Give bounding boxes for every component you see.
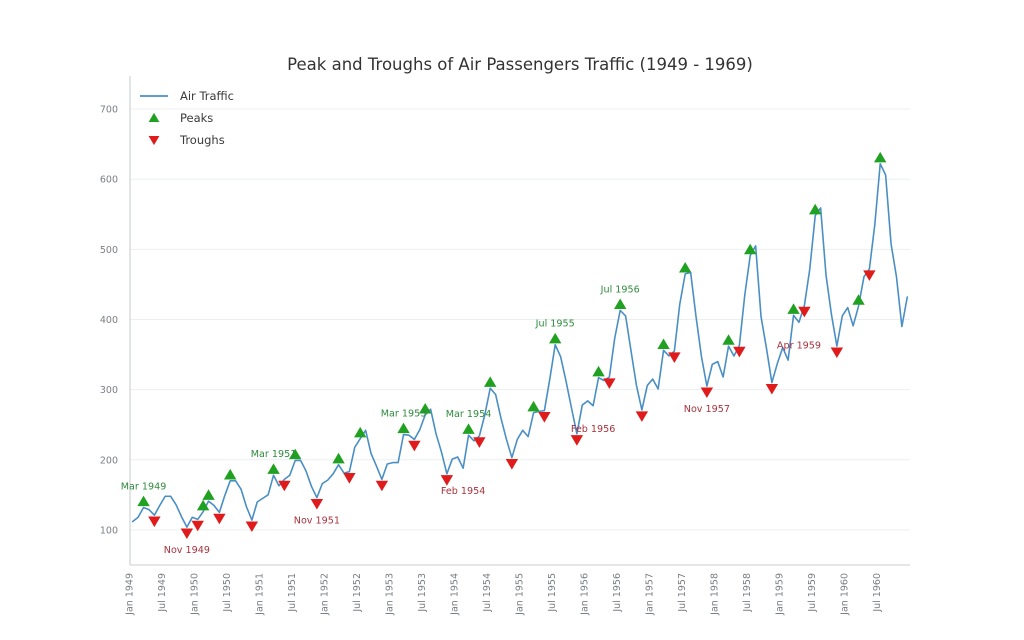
x-tick-label: Jan 1950 xyxy=(190,573,201,616)
peak-annotation-label: Jul 1955 xyxy=(535,319,575,330)
peak-annotation-label: Mar 1951 xyxy=(251,449,297,460)
x-tick-label: Jul 1960 xyxy=(872,573,883,613)
x-tick-label: Jan 1951 xyxy=(255,573,266,616)
y-tick-label: 500 xyxy=(100,245,118,256)
x-tick-label: Jan 1956 xyxy=(580,573,591,616)
trough-annotation-label: Nov 1957 xyxy=(684,404,730,415)
x-tick-label: Jan 1958 xyxy=(710,573,721,616)
x-tick-label: Jul 1952 xyxy=(352,573,363,613)
x-tick-label: Jan 1955 xyxy=(515,573,526,616)
x-tick-label: Jul 1950 xyxy=(222,573,233,613)
x-tick-label: Jul 1959 xyxy=(807,573,818,613)
x-tick-label: Jul 1954 xyxy=(482,573,493,613)
x-tick-label: Jan 1954 xyxy=(450,573,461,616)
air-traffic-chart-figure: Peak and Troughs of Air Passengers Traff… xyxy=(0,0,1024,640)
trough-annotation-label: Nov 1949 xyxy=(164,545,210,556)
x-tick-label: Jul 1958 xyxy=(742,573,753,613)
x-tick-label: Jul 1957 xyxy=(677,573,688,613)
trough-annotation-label: Apr 1959 xyxy=(777,340,821,351)
peak-annotation-label: Mar 1953 xyxy=(381,409,427,420)
x-tick-label: Jan 1960 xyxy=(840,573,851,616)
x-tick-label: Jul 1956 xyxy=(612,573,623,613)
peak-annotation-label: Mar 1949 xyxy=(121,481,167,492)
y-tick-label: 300 xyxy=(100,385,118,396)
trough-annotation-label: Feb 1956 xyxy=(571,424,615,435)
x-tick-label: Jan 1952 xyxy=(320,573,331,616)
x-tick-label: Jul 1949 xyxy=(157,573,168,613)
x-tick-label: Jan 1953 xyxy=(385,573,396,616)
legend-label: Air Traffic xyxy=(180,89,234,103)
legend-label: Troughs xyxy=(179,133,225,147)
x-tick-label: Jul 1951 xyxy=(287,573,298,613)
x-tick-label: Jul 1953 xyxy=(417,573,428,613)
y-tick-label: 100 xyxy=(100,525,118,536)
x-tick-label: Jan 1949 xyxy=(125,573,136,616)
chart-title: Peak and Troughs of Air Passengers Traff… xyxy=(287,55,753,74)
y-tick-label: 400 xyxy=(100,315,118,326)
x-tick-label: Jan 1957 xyxy=(645,573,656,616)
peak-annotation-label: Mar 1954 xyxy=(446,409,492,420)
y-tick-label: 700 xyxy=(100,105,118,116)
x-tick-label: Jan 1959 xyxy=(775,573,786,616)
trough-annotation-label: Nov 1951 xyxy=(294,516,340,527)
x-tick-label: Jul 1955 xyxy=(547,573,558,613)
trough-annotation-label: Feb 1954 xyxy=(441,486,485,497)
y-tick-label: 200 xyxy=(100,455,118,466)
legend-label: Peaks xyxy=(180,111,213,125)
peak-annotation-label: Jul 1956 xyxy=(600,284,640,295)
y-tick-label: 600 xyxy=(100,175,118,186)
